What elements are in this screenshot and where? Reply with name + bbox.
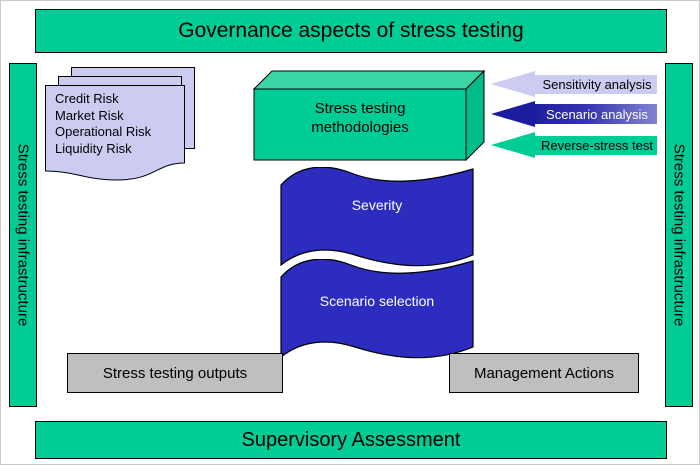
left-infrastructure-label: Stress testing infrastructure [15, 144, 32, 327]
header-title: Governance aspects of stress testing [178, 19, 524, 43]
risk-item-operational: Operational Risk [55, 124, 151, 141]
arrow-scenario-shape [491, 101, 657, 127]
arrow-scenario-analysis: Scenario analysis [491, 101, 657, 127]
risk-types-document-stack: Credit Risk Market Risk Operational Risk… [45, 67, 205, 181]
arrow-sensitivity-analysis: Sensitivity analysis [491, 71, 657, 97]
header-banner: Governance aspects of stress testing [35, 9, 667, 53]
arrow-sensitivity-shape [491, 71, 657, 97]
methodologies-3d-shape [253, 69, 485, 161]
risk-item-liquidity: Liquidity Risk [55, 141, 151, 158]
footer-title: Supervisory Assessment [242, 429, 461, 452]
risk-item-credit: Credit Risk [55, 91, 151, 108]
right-infrastructure-label: Stress testing infrastructure [671, 144, 688, 327]
scenario-selection-banner: Scenario selection [279, 259, 475, 367]
risk-type-list: Credit Risk Market Risk Operational Risk… [55, 91, 151, 157]
left-infrastructure-bar: Stress testing infrastructure [9, 63, 37, 407]
management-actions-label: Management Actions [474, 365, 614, 382]
stress-testing-outputs-label: Stress testing outputs [103, 365, 247, 382]
scenario-selection-banner-shape [279, 259, 475, 367]
stress-testing-outputs-box: Stress testing outputs [67, 353, 283, 393]
stress-testing-methodologies-box: Stress testing methodologies [253, 69, 485, 161]
arrow-reverse-stress-test: Reverse-stress test [491, 132, 657, 158]
arrow-reverse-stress-shape [491, 132, 657, 158]
management-actions-box: Management Actions [449, 353, 639, 393]
diagram-canvas: Governance aspects of stress testing Str… [0, 0, 700, 465]
right-infrastructure-bar: Stress testing infrastructure [665, 63, 693, 407]
risk-item-market: Market Risk [55, 108, 151, 125]
footer-banner: Supervisory Assessment [35, 421, 667, 459]
